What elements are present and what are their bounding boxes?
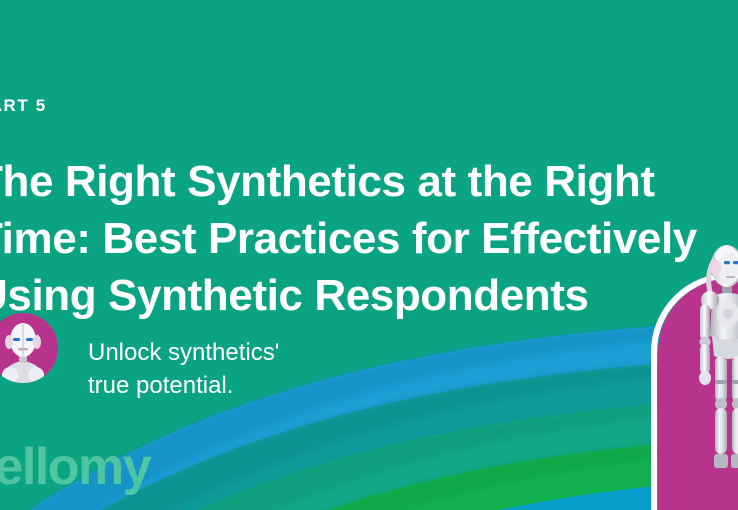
headline-line-1: The Right Synthetics at the Right [0, 153, 738, 210]
subtitle-line-2: true potential. [88, 369, 279, 402]
headline-line-2: Time: Best Practices for Effectively [0, 210, 738, 267]
eyebrow-label: PART 5 [0, 96, 47, 116]
page-title: The Right Synthetics at the Right Time: … [0, 153, 738, 324]
headline-line-3: Using Synthetic Respondents [0, 267, 738, 324]
brand-logo: Tellomy [0, 437, 150, 497]
presentation-slide: PART 5 The Right Synthetics at the Right… [0, 0, 738, 510]
subtitle-line-1: Unlock synthetics' [88, 336, 279, 369]
subtitle: Unlock synthetics' true potential. [88, 336, 279, 402]
